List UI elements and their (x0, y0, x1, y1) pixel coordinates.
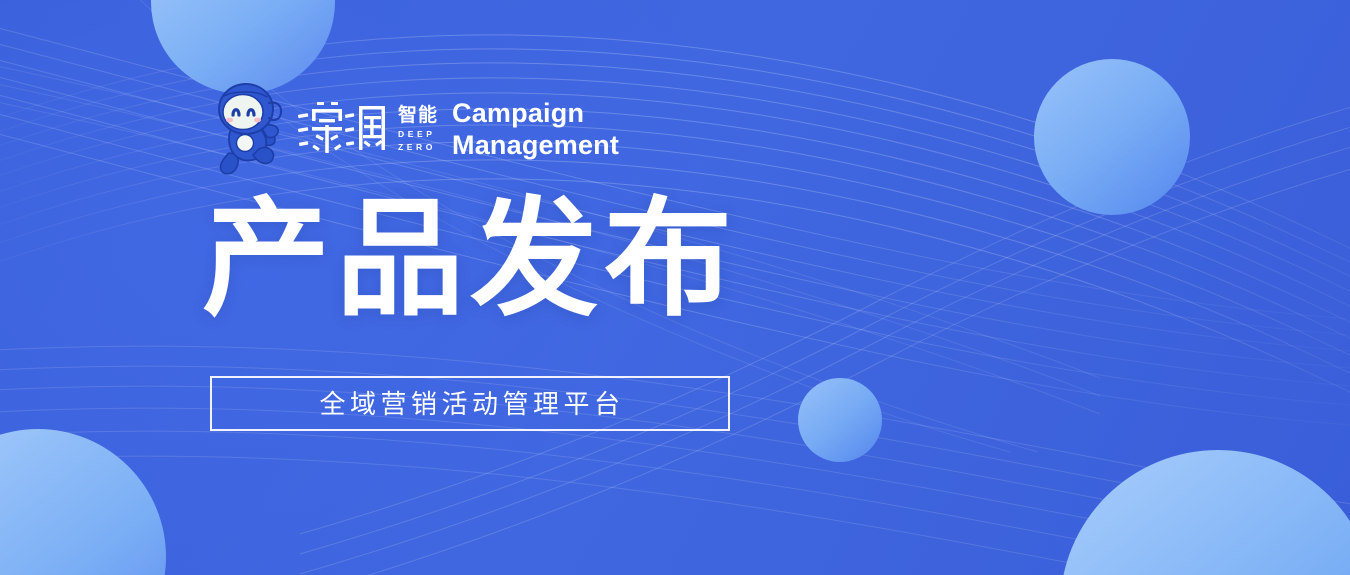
brand-logo-row: 智能 DEEP ZERO Campaign Management (205, 82, 619, 178)
product-launch-banner: 智能 DEEP ZERO Campaign Management 产品发布 全域… (0, 0, 1350, 575)
brand-name-en-deep: DEEP (398, 129, 438, 139)
brand-name-cn: 智能 (398, 106, 438, 125)
subtitle-box: 全域营销活动管理平台 (210, 376, 730, 431)
product-name-line2: Management (452, 130, 619, 162)
product-name-en: Campaign Management (452, 98, 619, 162)
brand-wordmark-cn (297, 101, 389, 159)
headline-title: 产品发布 (202, 186, 738, 334)
brand-name-en-zero: ZERO (398, 142, 438, 152)
robot-mascot-icon (205, 83, 291, 177)
product-name-line1: Campaign (452, 98, 619, 130)
brand-sub-lockup: 智能 DEEP ZERO (398, 101, 438, 160)
subtitle-text: 全域营销活动管理平台 (315, 391, 624, 417)
